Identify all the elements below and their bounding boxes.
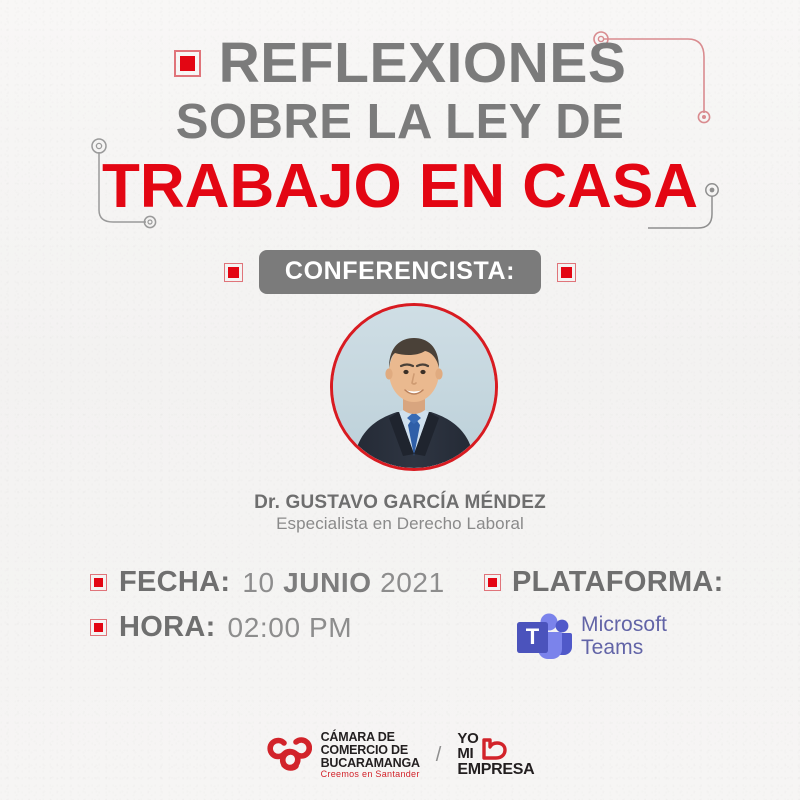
- yme-line-3: EMPRESA: [457, 762, 534, 778]
- red-square-bullet-icon-time: [90, 619, 107, 636]
- teams-word-microsoft: Microsoft: [581, 614, 667, 637]
- platform-block: PLATAFORMA: T Microsoft Teams: [484, 566, 724, 663]
- headline-line-2: SOBRE LA LEY DE: [0, 94, 800, 152]
- headline-line-3: TRABAJO EN CASA: [0, 152, 800, 221]
- ccb-line-3: BUCARAMANGA: [321, 757, 420, 770]
- date-value: 10 JUNIO 2021: [242, 567, 444, 599]
- footer-logos: CÁMARA DE COMERCIO DE BUCARAMANGA Creemo…: [0, 731, 800, 779]
- speaker-portrait: [330, 303, 470, 473]
- poster-canvas: REFLEXIONES SOBRE LA LEY DE TRABAJO EN C…: [0, 0, 800, 800]
- heart-icon: [481, 737, 507, 761]
- yo-mi-empresa-logo: YO MI EMPRESA: [457, 732, 534, 778]
- ccb-wordmark: CÁMARA DE COMERCIO DE BUCARAMANGA Creemo…: [321, 731, 420, 779]
- yme-line-2: MI: [457, 747, 478, 762]
- ccb-mark-icon: [266, 733, 312, 777]
- red-square-bullet-icon: [174, 50, 201, 77]
- speaker-name: Dr. GUSTAVO GARCÍA MÉNDEZ: [0, 492, 800, 514]
- red-square-bullet-icon-platform: [484, 574, 501, 591]
- speaker-badge-label: CONFERENCISTA:: [259, 250, 541, 294]
- footer-separator: /: [436, 744, 442, 767]
- event-info-block: FECHA: 10 JUNIO 2021 HORA: 02:00 PM: [90, 566, 445, 656]
- headline-line-1-row: REFLEXIONES: [0, 34, 800, 92]
- ccb-tagline: Creemos en Santander: [321, 770, 420, 779]
- teams-word-teams: Teams: [581, 637, 667, 660]
- speaker-role: Especialista en Derecho Laboral: [0, 514, 800, 534]
- platform-header: PLATAFORMA:: [484, 566, 724, 599]
- teams-icon: T: [516, 611, 572, 663]
- red-square-bullet-icon-left: [224, 263, 243, 282]
- red-square-bullet-icon-date: [90, 574, 107, 591]
- date-day: 10: [242, 567, 274, 598]
- ccb-logo: CÁMARA DE COMERCIO DE BUCARAMANGA Creemo…: [266, 731, 420, 779]
- date-label: FECHA:: [119, 566, 230, 599]
- speaker-badge-row: CONFERENCISTA:: [0, 250, 800, 294]
- headline-block: REFLEXIONES SOBRE LA LEY DE TRABAJO EN C…: [0, 34, 800, 221]
- date-row: FECHA: 10 JUNIO 2021: [90, 566, 445, 599]
- ccb-line-1: CÁMARA DE: [321, 731, 420, 744]
- ccb-line-2: COMERCIO DE: [321, 744, 420, 757]
- date-year: 2021: [380, 567, 445, 598]
- date-month: JUNIO: [283, 567, 372, 598]
- teams-letter: T: [526, 624, 540, 649]
- time-value: 02:00 PM: [228, 612, 353, 644]
- red-square-bullet-icon-right: [557, 263, 576, 282]
- portrait-illustration: [333, 306, 495, 468]
- yme-top-row: YO MI: [457, 732, 534, 761]
- portrait-circle-frame: [330, 303, 498, 471]
- teams-wordmark: Microsoft Teams: [581, 614, 667, 659]
- platform-label: PLATAFORMA:: [512, 566, 724, 599]
- headline-line-1: REFLEXIONES: [219, 34, 627, 92]
- time-label: HORA:: [119, 611, 216, 644]
- microsoft-teams-logo: T Microsoft Teams: [516, 611, 724, 663]
- yme-words: YO MI: [457, 732, 478, 761]
- time-row: HORA: 02:00 PM: [90, 611, 445, 644]
